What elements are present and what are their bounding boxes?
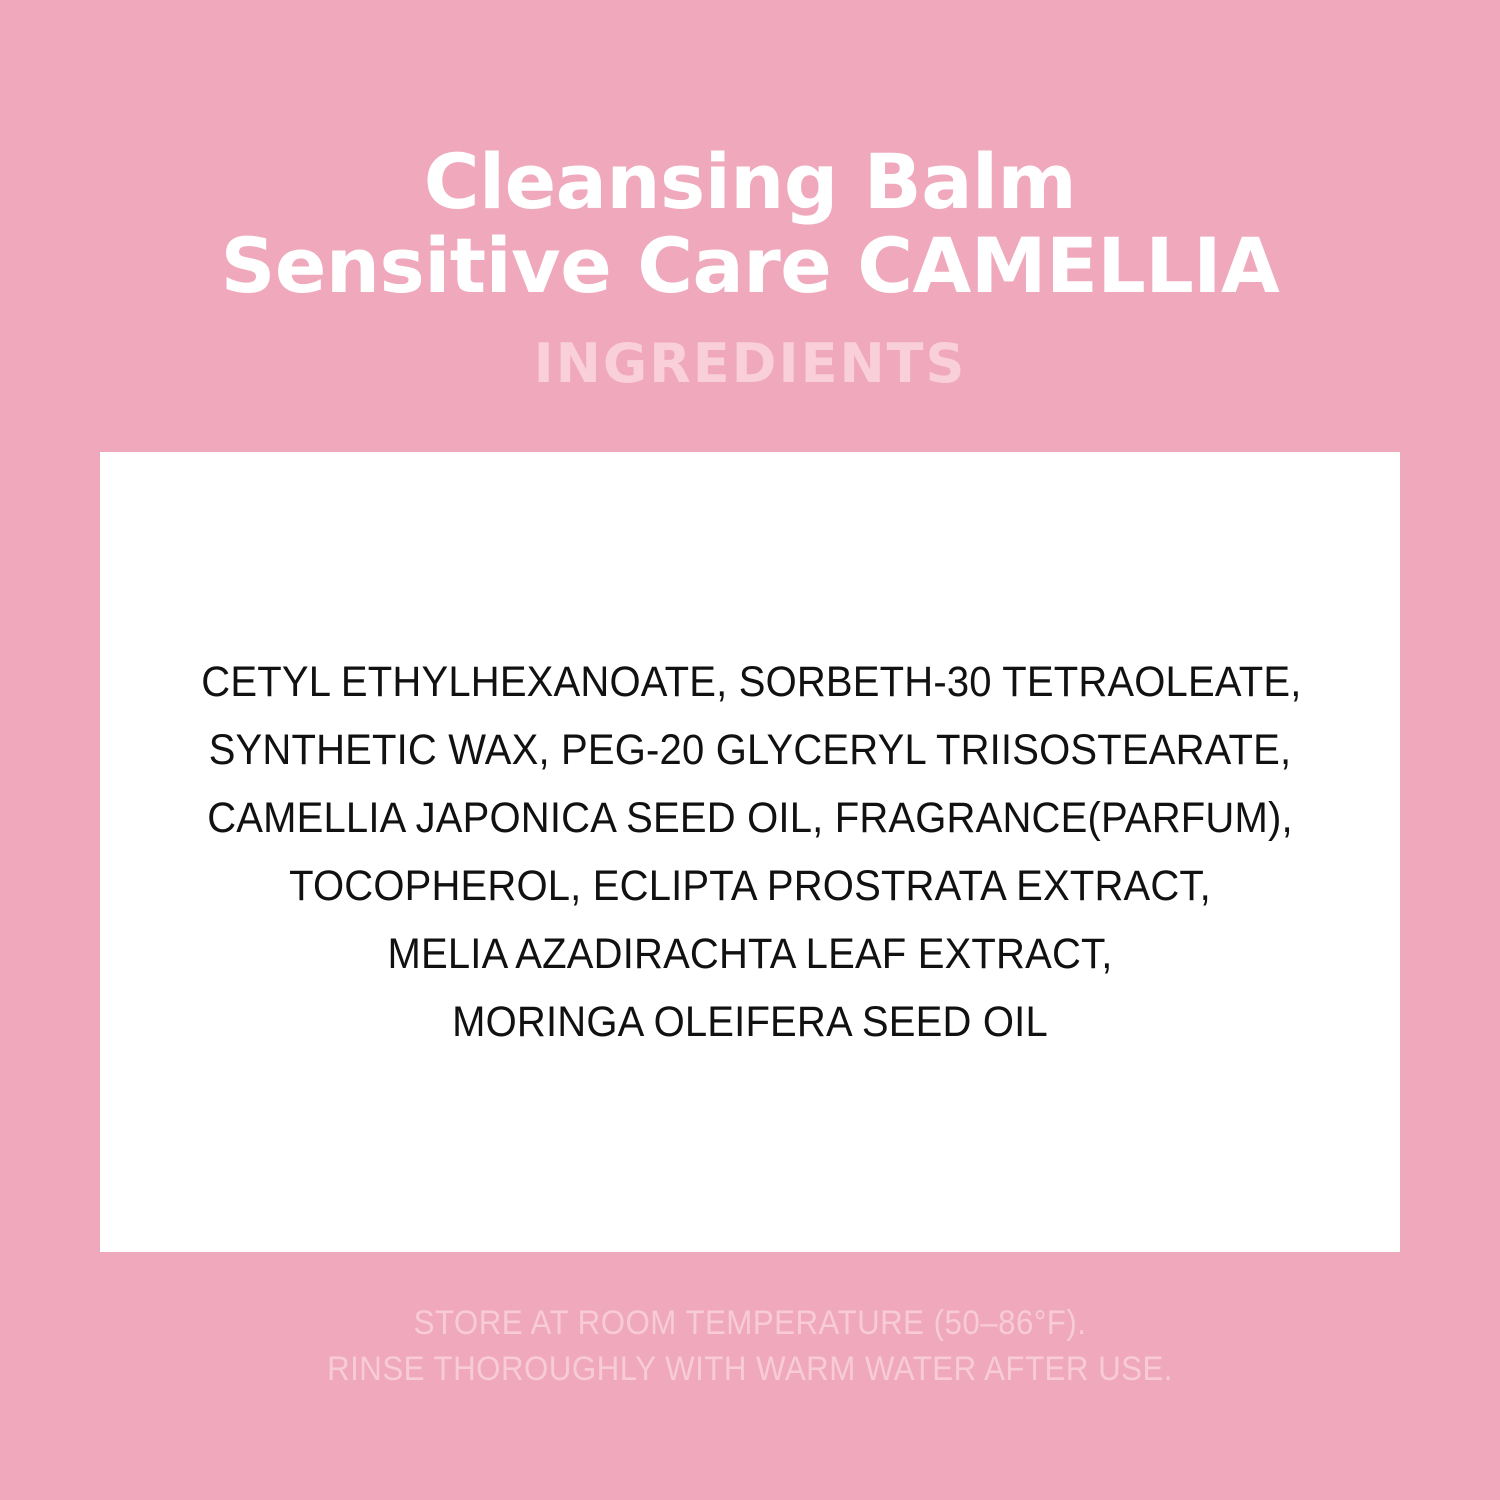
section-label-ingredients: INGREDIENTS: [0, 308, 1500, 394]
storage-instruction: STORE AT ROOM TEMPERATURE (50–86°F).: [60, 1300, 1440, 1346]
ingredient-line: CETYL ETHYLHEXANOATE, SORBETH-30 TETRAOL…: [201, 648, 1298, 716]
ingredient-line: TOCOPHEROL, ECLIPTA PROSTRATA EXTRACT,: [201, 852, 1298, 920]
ingredient-line: SYNTHETIC WAX, PEG-20 GLYCERYL TRIISOSTE…: [201, 716, 1298, 784]
product-title-line-2: Sensitive Care CAMELLIA: [0, 224, 1500, 308]
ingredient-line: CAMELLIA JAPONICA SEED OIL, FRAGRANCE(PA…: [201, 784, 1298, 852]
ingredient-card: CETYL ETHYLHEXANOATE, SORBETH-30 TETRAOL…: [100, 452, 1400, 1252]
ingredient-list: CETYL ETHYLHEXANOATE, SORBETH-30 TETRAOL…: [201, 648, 1298, 1056]
usage-footer: STORE AT ROOM TEMPERATURE (50–86°F). RIN…: [60, 1300, 1440, 1392]
product-title: Cleansing Balm Sensitive Care CAMELLIA: [0, 140, 1500, 308]
ingredients-poster: Cleansing Balm Sensitive Care CAMELLIA I…: [0, 0, 1500, 1500]
product-title-line-1: Cleansing Balm: [424, 137, 1076, 226]
ingredient-line: MORINGA OLEIFERA SEED OIL: [201, 988, 1298, 1056]
rinse-instruction: RINSE THOROUGHLY WITH WARM WATER AFTER U…: [60, 1346, 1440, 1392]
ingredient-line: MELIA AZADIRACHTA LEAF EXTRACT,: [201, 920, 1298, 988]
poster-header: Cleansing Balm Sensitive Care CAMELLIA I…: [0, 0, 1500, 394]
